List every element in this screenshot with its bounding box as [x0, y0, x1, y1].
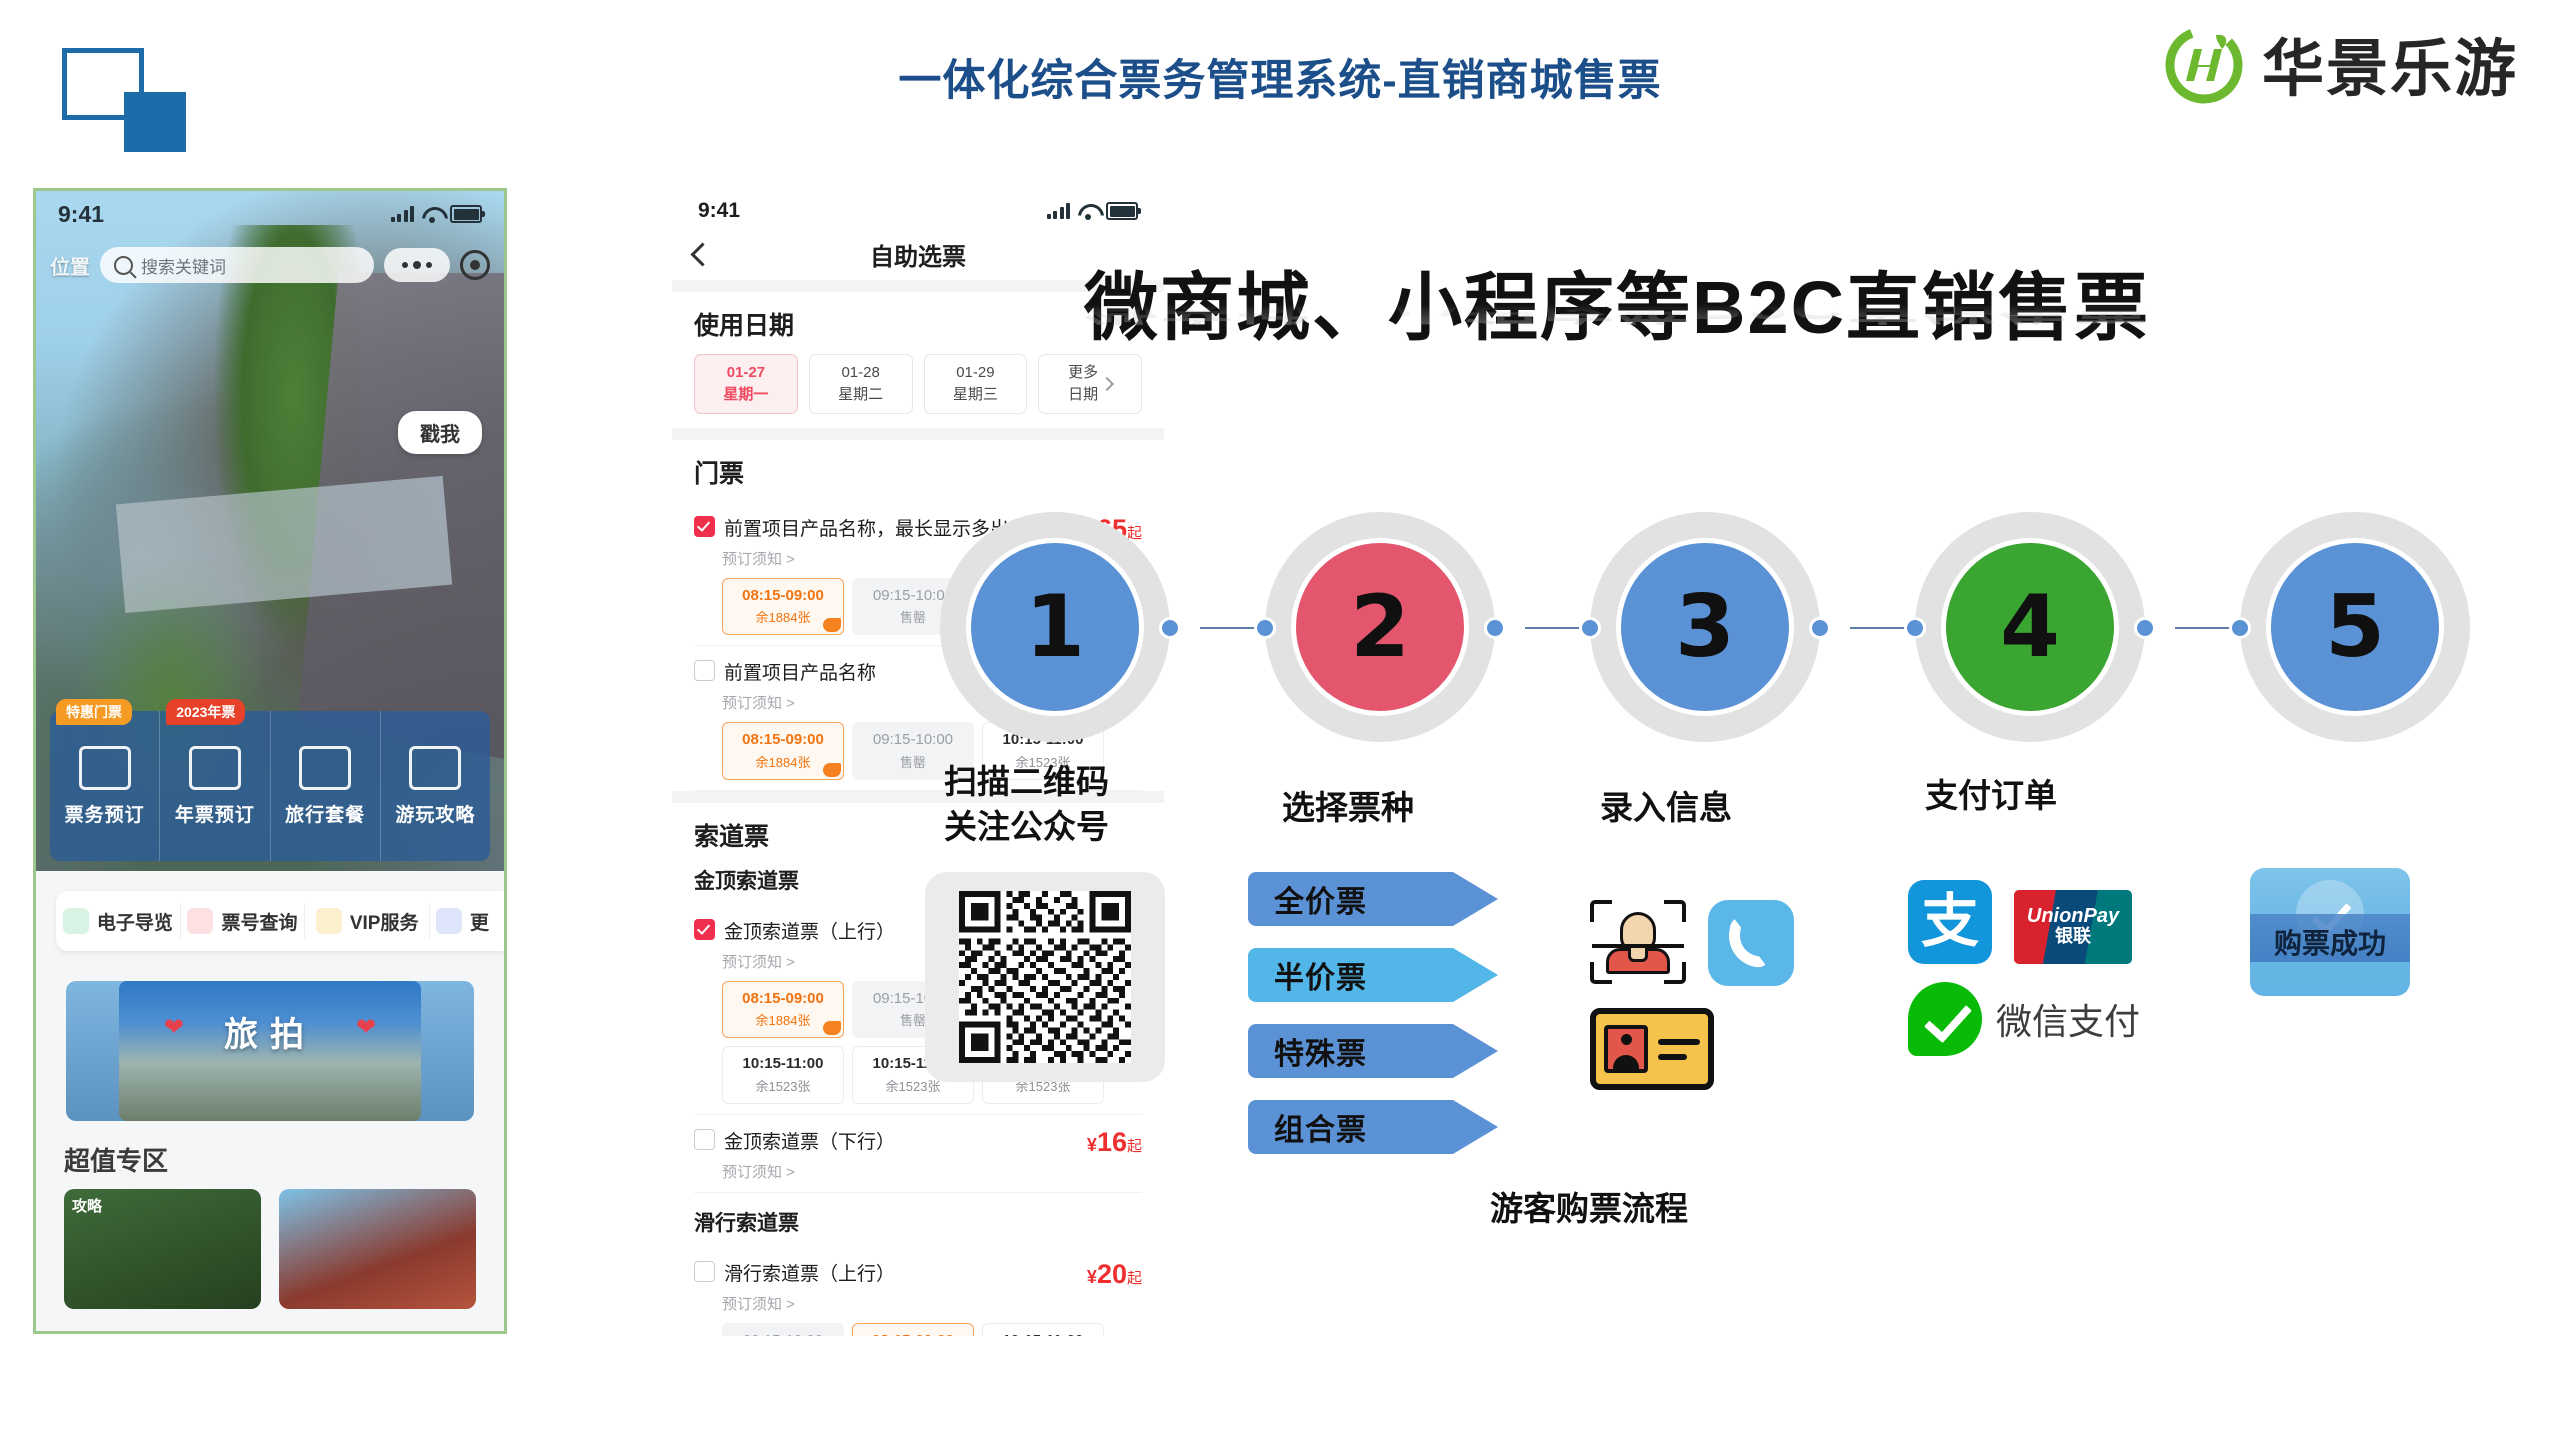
step-dot-left [2229, 617, 2251, 639]
ticket-price: ¥16起 [1087, 1127, 1142, 1158]
ticket-status-time: 9:41 [698, 199, 740, 223]
tile-label: 游玩攻略 [395, 800, 475, 827]
ticket-type-special[interactable]: 特殊票 [1248, 1024, 1498, 1078]
date-chip-0128[interactable]: 01-28 星期二 [809, 354, 913, 414]
booking-notice-link[interactable]: 预订须知 > [722, 1293, 1142, 1314]
home-hero-image: 9:41 位置 搜索关键词 戳我 特惠门票 票务预订 [36, 191, 504, 871]
slot-time: 08:15-09:00 [853, 1330, 973, 1337]
purchase-success-label: 购票成功 [2250, 922, 2410, 962]
section-title: 门票 [694, 454, 1142, 490]
ticket-search-icon [187, 908, 213, 934]
wechat-pay-label: 微信支付 [1996, 993, 2140, 1045]
tile-badge: 2023年票 [166, 699, 245, 725]
alipay-icon[interactable]: 支 [1908, 880, 1992, 964]
date-section-title: 使用日期 [694, 306, 1142, 342]
step-node-2[interactable]: 2 [1265, 512, 1495, 742]
unionpay-icon[interactable]: UnionPay 银联 [2014, 890, 2132, 964]
quick-link-label: 票号查询 [221, 908, 297, 935]
date-chip-weekday: 星期一 [695, 384, 797, 406]
date-chip-weekday: 星期三 [925, 384, 1027, 406]
step-connector [1200, 627, 1260, 629]
step-label-1: 扫描二维码 关注公众号 [944, 760, 1109, 849]
ticket-checkbox[interactable] [694, 1129, 715, 1150]
phone-call-icon [1708, 900, 1794, 986]
step-label-4: 支付订单 [1925, 774, 2057, 819]
time-slot[interactable]: 10:15-11:00 余1523张 [722, 1046, 844, 1104]
date-chip-date: 更多 [1068, 362, 1098, 384]
time-slot[interactable]: 08:15-09:00 余1884张 [722, 981, 844, 1039]
more-options-button[interactable] [384, 248, 450, 282]
quick-link-label: 更 [470, 908, 489, 935]
date-chip-0127[interactable]: 01-27 星期一 [694, 354, 798, 414]
quick-link-more[interactable]: 更 [430, 903, 504, 939]
purchase-success-card[interactable]: 购票成功 [2250, 868, 2410, 996]
ticket-type-list: 全价票 半价票 特殊票 组合票 [1248, 872, 1498, 1176]
process-steps: 1 2 3 4 5 [940, 512, 2480, 742]
time-slot[interactable]: 08:15-09:00 余1884张 [722, 722, 844, 780]
quick-link-vip[interactable]: VIP服务 [305, 903, 430, 939]
more-icon [436, 908, 462, 934]
slot-stock: 售罄 [900, 610, 926, 625]
home-search-row: 位置 搜索关键词 [50, 247, 490, 283]
ticket-price: ¥20起 [1087, 1259, 1142, 1290]
step-dot-right [1484, 617, 1506, 639]
guide-icon [409, 746, 461, 790]
step-number: 2 [1291, 538, 1469, 716]
phone-home-mockup: 9:41 位置 搜索关键词 戳我 特惠门票 票务预订 [33, 188, 507, 1334]
time-slot[interactable]: 08:15-09:00 余1884张 [852, 1323, 974, 1337]
time-slot-list: 09:15-10:00 售罄 08:15-09:00 余1884张 10:15-… [722, 1323, 1142, 1337]
slot-time: 10:15-11:00 [983, 1330, 1103, 1337]
value-card-temple[interactable] [279, 1189, 476, 1309]
ticket-checkbox[interactable] [694, 919, 715, 940]
ticket-checkbox[interactable] [694, 516, 715, 537]
slot-stock: 余1884张 [756, 755, 811, 770]
tile-annual-pass[interactable]: 2023年票 年票预订 [160, 711, 270, 861]
ticket-checkbox[interactable] [694, 660, 715, 681]
quick-link-ticket-query[interactable]: 票号查询 [181, 903, 306, 939]
section-subtitle: 滑行索道票 [694, 1207, 1142, 1237]
home-status-bar: 9:41 [36, 191, 504, 237]
home-quick-links: 电子导览 票号查询 VIP服务 更 [56, 891, 504, 951]
unionpay-line1: UnionPay [2027, 906, 2119, 926]
ticket-name: 滑行索道票（上行） [724, 1259, 1078, 1286]
date-chip-date: 01-27 [695, 362, 797, 384]
time-slot: 09:15-10:00 售罄 [722, 1323, 844, 1337]
brand-name: 华景乐游 [2262, 18, 2518, 108]
step-dot-right [1159, 617, 1181, 639]
wifi-icon [1078, 204, 1098, 219]
home-service-tiles: 特惠门票 票务预订 2023年票 年票预订 旅行套餐 游玩攻略 [50, 711, 490, 861]
section-slide-cableway: 滑行索道票 滑行索道票（上行） ¥20起 预订须知 > 09:15-10:00 … [672, 1193, 1164, 1337]
step-label-3: 录入信息 [1600, 786, 1732, 831]
payment-methods: 支 UnionPay 银联 微信支付 [1908, 880, 2140, 1056]
battery-icon [1106, 202, 1138, 220]
home-status-time: 9:41 [58, 201, 104, 228]
search-placeholder: 搜索关键词 [141, 253, 226, 278]
section-divider [672, 428, 1164, 440]
slot-stock: 余1523张 [886, 1079, 941, 1094]
step-label-1-line1: 扫描二维码 [944, 760, 1109, 805]
slot-time: 09:15-10:00 [723, 1330, 843, 1337]
step-label-1-line2: 关注公众号 [944, 805, 1109, 850]
quick-link-eguide[interactable]: 电子导览 [56, 903, 181, 939]
slot-stock: 余1884张 [756, 610, 811, 625]
slot-time: 10:15-11:00 [723, 1053, 843, 1076]
wifi-icon [422, 207, 442, 222]
date-chip-more[interactable]: 更多 日期 [1038, 354, 1142, 414]
date-chip-0129[interactable]: 01-29 星期三 [924, 354, 1028, 414]
brand-logo-group: 华景乐游 [2160, 18, 2518, 108]
main-heading: 微商城、小程序等B2C直销售票 微商城、小程序等B2C直销售票 [1084, 248, 2150, 355]
slot-stock: 售罄 [900, 1013, 926, 1028]
ticket-checkbox[interactable] [694, 1261, 715, 1282]
target-icon[interactable] [460, 250, 490, 280]
ticket-icon [79, 746, 131, 790]
quick-link-label: 电子导览 [97, 908, 173, 935]
main-heading-reflection: 微商城、小程序等B2C直销售票 [1084, 286, 2150, 334]
ticket-item[interactable]: 金顶索道票（下行） ¥16起 预订须知 > [694, 1115, 1142, 1193]
date-chip-weekday: 星期二 [810, 384, 912, 406]
time-slot[interactable]: 08:15-09:00 余1884张 [722, 578, 844, 636]
value-card-guide[interactable]: 攻略 [64, 1189, 261, 1309]
banner-text: 旅拍 [66, 1007, 474, 1056]
date-chip-date: 01-29 [925, 362, 1027, 384]
ticket-item[interactable]: 滑行索道票（上行） ¥20起 预订须知 > 09:15-10:00 售罄 08:… [694, 1247, 1142, 1337]
slot-stock: 余1523张 [756, 1079, 811, 1094]
step-dot-right [2134, 617, 2156, 639]
quick-link-label: VIP服务 [350, 908, 419, 935]
step-node-3[interactable]: 3 [1590, 512, 1820, 742]
card-icon [189, 746, 241, 790]
slot-time: 08:15-09:00 [723, 988, 843, 1011]
date-chip-list: 01-27 星期一 01-28 星期二 01-29 星期三 更多 日期 [694, 354, 1142, 428]
slot-time: 08:15-09:00 [723, 729, 843, 752]
date-chip-weekday: 日期 [1068, 384, 1098, 406]
step-label-2: 选择票种 [1282, 786, 1414, 831]
step-number: 5 [2266, 538, 2444, 716]
tile-label: 年票预订 [175, 800, 255, 827]
booking-notice-link[interactable]: 预订须知 > [722, 1161, 1142, 1182]
wechat-pay-icon[interactable] [1908, 982, 1982, 1056]
time-slot[interactable]: 10:15-11:00 余1523张 [982, 1323, 1104, 1337]
brand-circle-h-icon [2160, 19, 2248, 107]
slot-stock: 余1884张 [756, 1013, 811, 1028]
step-dot-left [1904, 617, 1926, 639]
unionpay-line2: 银联 [2055, 926, 2091, 948]
map-guide-icon [63, 908, 89, 934]
ticket-type-combo[interactable]: 组合票 [1248, 1100, 1498, 1154]
tile-label: 票务预订 [65, 800, 145, 827]
tile-badge: 特惠门票 [56, 699, 132, 725]
qr-code-panel[interactable] [925, 872, 1165, 1082]
step-node-4[interactable]: 4 [1915, 512, 2145, 742]
tile-ticket-booking[interactable]: 特惠门票 票务预订 [50, 711, 160, 861]
value-zone-title: 超值专区 [64, 1141, 168, 1178]
flow-caption: 游客购票流程 [1490, 1182, 1688, 1230]
signal-icon [391, 206, 415, 222]
step-node-5[interactable]: 5 [2240, 512, 2470, 742]
value-zone-cards: 攻略 [64, 1189, 476, 1309]
vip-icon [316, 908, 342, 934]
tile-travel-package[interactable]: 旅行套餐 [271, 711, 381, 861]
ticket-name: 金顶索道票（下行） [724, 1127, 1078, 1154]
step-dot-left [1254, 617, 1276, 639]
slot-stock: 售罄 [900, 755, 926, 770]
face-scan-icon [1590, 900, 1686, 984]
location-label[interactable]: 位置 [50, 251, 90, 280]
package-icon [299, 746, 351, 790]
qr-code [959, 891, 1131, 1063]
step-node-1[interactable]: 1 [940, 512, 1170, 742]
step-dot-right [1809, 617, 1831, 639]
id-card-icon [1590, 1008, 1714, 1090]
step-dot-left [1579, 617, 1601, 639]
step-number: 3 [1616, 538, 1794, 716]
step-number: 4 [1941, 538, 2119, 716]
identity-input-icons [1590, 900, 1794, 1090]
chevron-right-icon [1100, 377, 1114, 391]
slot-time: 08:15-09:00 [723, 585, 843, 608]
ticket-type-half[interactable]: 半价票 [1248, 948, 1498, 1002]
signal-icon [1047, 203, 1071, 219]
poke-button[interactable]: 戳我 [398, 411, 482, 454]
tile-label: 旅行套餐 [285, 800, 365, 827]
date-chip-date: 01-28 [810, 362, 912, 384]
search-input[interactable]: 搜索关键词 [100, 247, 374, 283]
card-tag: 攻略 [72, 1195, 102, 1216]
ticket-type-full[interactable]: 全价票 [1248, 872, 1498, 926]
step-number: 1 [966, 538, 1144, 716]
ticket-status-bar: 9:41 [672, 188, 1164, 228]
home-banner-carousel[interactable]: ❤ ❤ 旅拍 [66, 981, 474, 1121]
search-icon [114, 256, 133, 275]
tile-play-guide[interactable]: 游玩攻略 [381, 711, 490, 861]
battery-icon [450, 205, 482, 223]
